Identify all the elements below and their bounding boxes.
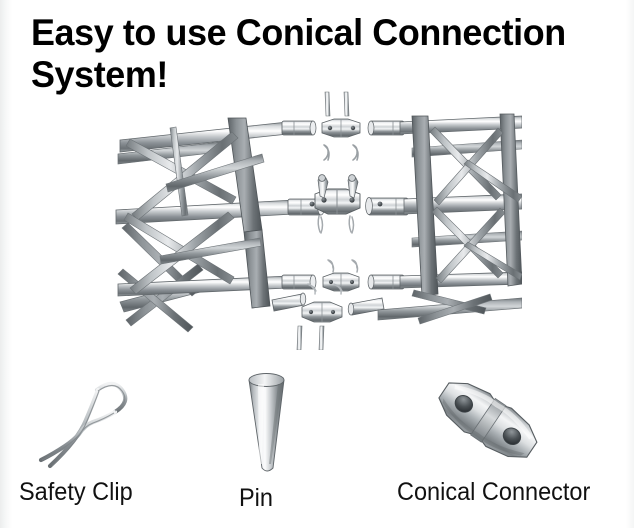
tube-socket-left-lower: [282, 275, 316, 289]
component-label-safety-clip: Safety Clip: [19, 478, 133, 507]
safety-clip-icon: [318, 216, 353, 233]
left-edge-gradient: [0, 0, 12, 528]
conical-connector-illustration: [428, 372, 550, 472]
component-label-conical-connector: Conical Connector: [397, 478, 590, 507]
safety-clip-illustration: [18, 360, 168, 470]
conical-connector-icon: [302, 302, 342, 322]
page-title: Easy to use Conical Connection System!: [31, 12, 603, 96]
product-feature-graphic: Easy to use Conical Connection System!: [0, 0, 634, 528]
exploded-truss-diagram: [112, 88, 522, 350]
safety-clip-icon: [328, 260, 358, 272]
exploded-hardware-middle: [315, 175, 360, 233]
conical-connector-assembled: [315, 175, 360, 214]
taper-pin-body: [249, 374, 284, 472]
right-edge-gradient: [626, 0, 634, 528]
conical-connector-icon: [322, 119, 360, 137]
taper-pin-icon: [297, 326, 324, 350]
truss-section-left: [116, 118, 324, 332]
tube-socket-right-lower: [368, 275, 404, 289]
conical-connector-body: [431, 372, 545, 469]
taper-pin-illustration: [236, 368, 298, 476]
exploded-hardware-lower: [323, 260, 359, 291]
taper-pin-icon: [325, 92, 349, 116]
tube-socket-right-top: [368, 121, 404, 135]
safety-clip-icon: [324, 145, 358, 160]
exploded-hardware-top: [322, 92, 360, 160]
tube-socket-right-middle: [366, 198, 408, 216]
component-label-pin: Pin: [239, 484, 273, 513]
truss-section-right: [348, 114, 522, 324]
tube-socket-left-top: [282, 121, 316, 135]
tube-socket-left-bottom: [272, 293, 306, 311]
